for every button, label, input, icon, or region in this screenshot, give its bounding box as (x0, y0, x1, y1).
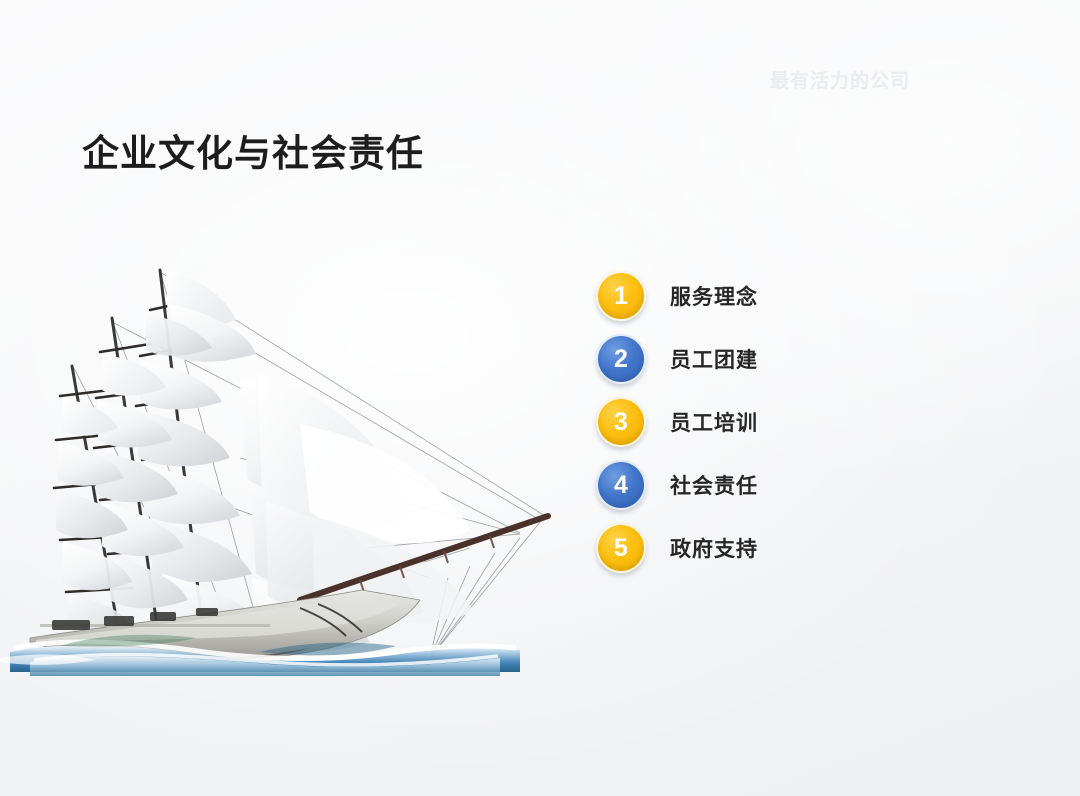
list-item[interactable]: 5 政府支持 (596, 524, 916, 572)
agenda-list: 1 服务理念 2 员工团建 3 员工培训 4 社会责任 5 政府支持 (596, 272, 916, 587)
list-item-label: 服务理念 (670, 281, 758, 311)
sailing-ship-illustration (0, 248, 580, 678)
watermark-text: 最有活力的公司 (770, 66, 910, 93)
list-item-number-badge: 4 (596, 460, 646, 510)
presentation-slide: 最有活力的公司 企业文化与社会责任 (0, 0, 1080, 796)
list-item-label: 政府支持 (670, 533, 758, 563)
list-item[interactable]: 4 社会责任 (596, 461, 916, 509)
list-item-number-badge: 5 (596, 523, 646, 573)
list-item[interactable]: 2 员工团建 (596, 335, 916, 383)
list-item-label: 社会责任 (670, 470, 758, 500)
list-item-label: 员工团建 (670, 344, 758, 374)
page-title: 企业文化与社会责任 (82, 123, 424, 177)
list-item-number-badge: 3 (596, 397, 646, 447)
list-item[interactable]: 3 员工培训 (596, 398, 916, 446)
list-item[interactable]: 1 服务理念 (596, 272, 916, 320)
list-item-number-badge: 1 (596, 271, 646, 321)
list-item-label: 员工培训 (670, 407, 758, 437)
list-item-number-badge: 2 (596, 334, 646, 384)
